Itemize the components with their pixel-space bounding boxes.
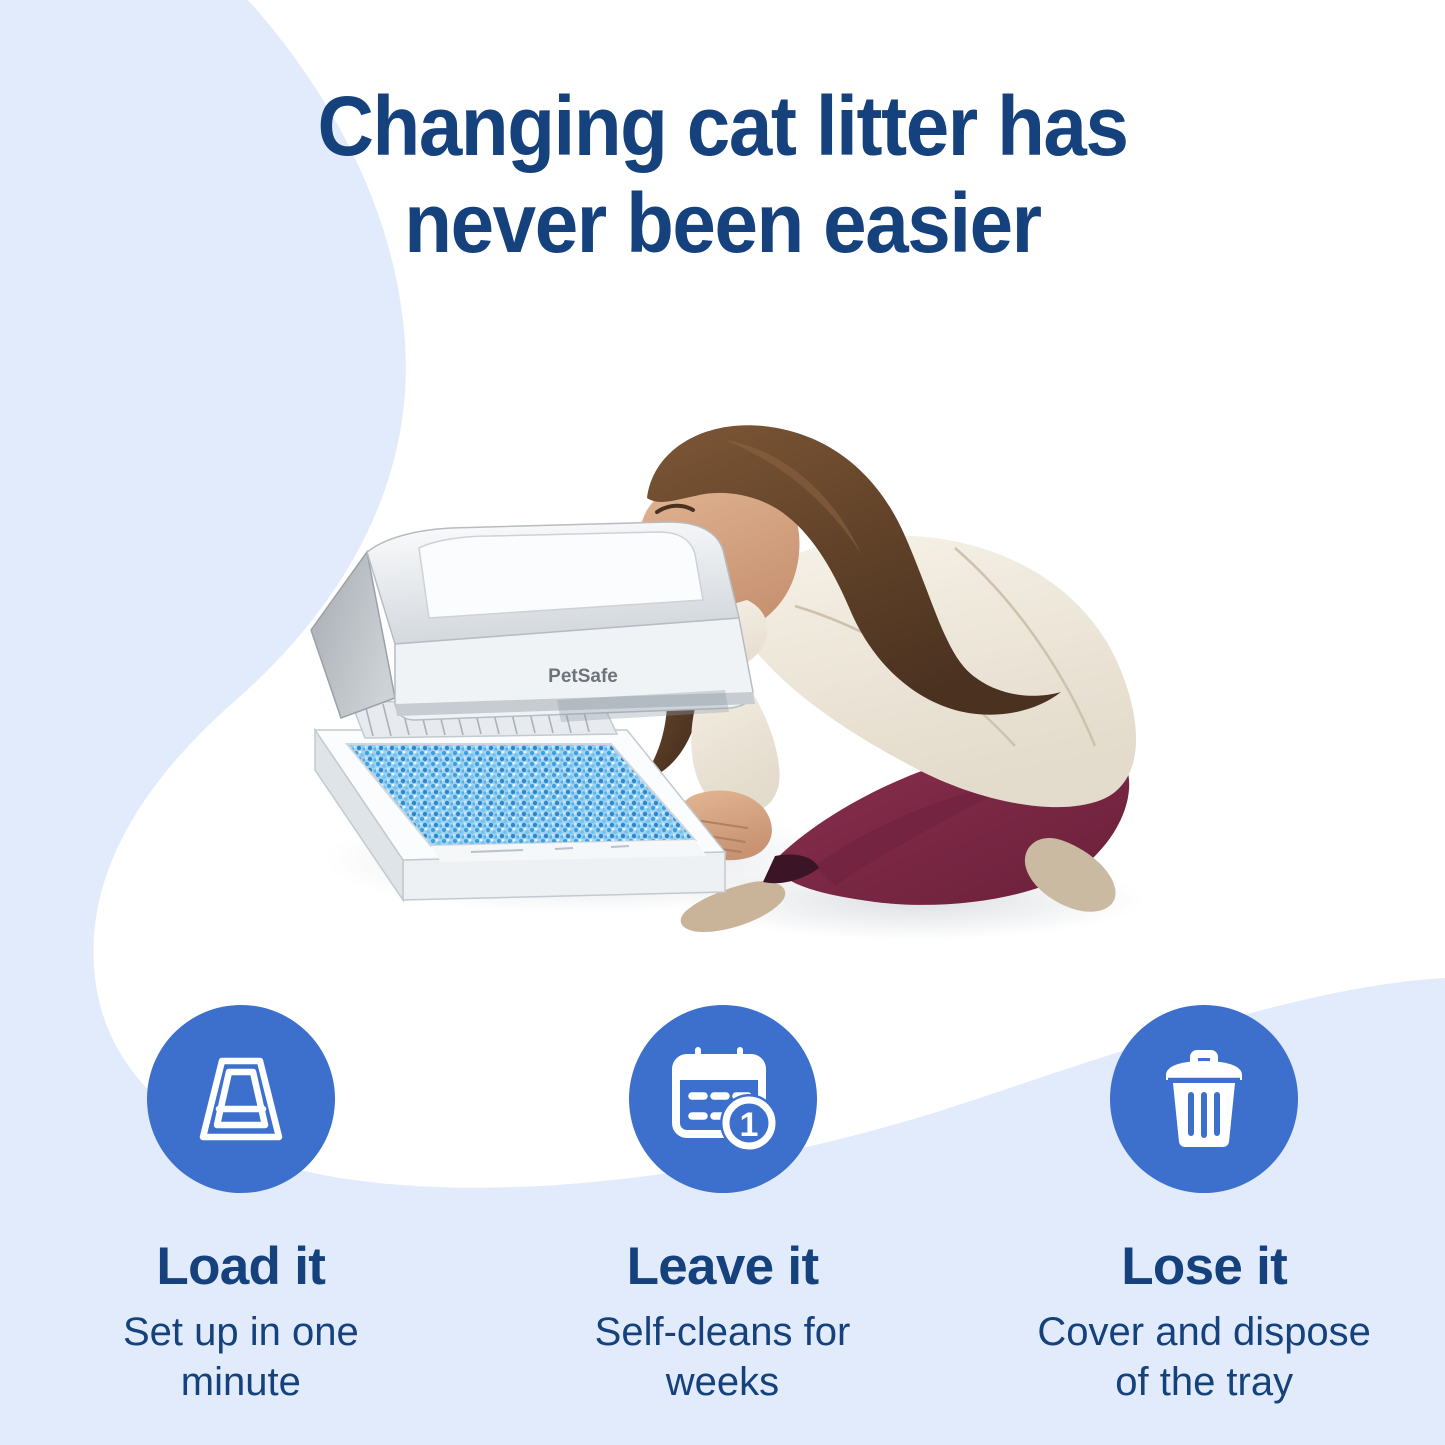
feature-desc-load-it: Set up in one minute <box>61 1307 421 1408</box>
feature-desc-lose-it: Cover and dispose of the tray <box>1024 1307 1384 1408</box>
trash-can-icon <box>1152 1047 1256 1151</box>
feature-column-load-it: Load it Set up in one minute <box>0 1005 482 1425</box>
feature-icon-circle-lose-it <box>1110 1005 1298 1193</box>
feature-column-leave-it: 1 Leave it Self-cleans for weeks <box>482 1005 964 1425</box>
feature-icon-circle-load-it <box>147 1005 335 1193</box>
feature-row: Load it Set up in one minute <box>0 1005 1445 1425</box>
headline-line-2: never been easier <box>51 175 1395 272</box>
page-headline: Changing cat litter has never been easie… <box>0 78 1445 273</box>
calendar-one-icon: 1 <box>668 1044 778 1154</box>
litter-tray-icon <box>189 1047 293 1151</box>
headline-line-1: Changing cat litter has <box>51 78 1395 175</box>
feature-icon-circle-leave-it: 1 <box>629 1005 817 1193</box>
hero-product-photo: PetSafe <box>255 300 1155 980</box>
product-brand-label: PetSafe <box>548 666 618 687</box>
feature-title-lose-it: Lose it <box>1121 1239 1287 1295</box>
litter-box-product: PetSafe <box>311 522 755 900</box>
feature-desc-leave-it: Self-cleans for weeks <box>543 1307 903 1408</box>
feature-column-lose-it: Lose it Cover and dispose of the tray <box>963 1005 1445 1425</box>
feature-title-leave-it: Leave it <box>627 1239 819 1295</box>
litter-box-hood: PetSafe <box>311 522 755 722</box>
calendar-badge-number: 1 <box>739 1106 758 1144</box>
feature-title-load-it: Load it <box>156 1239 325 1295</box>
